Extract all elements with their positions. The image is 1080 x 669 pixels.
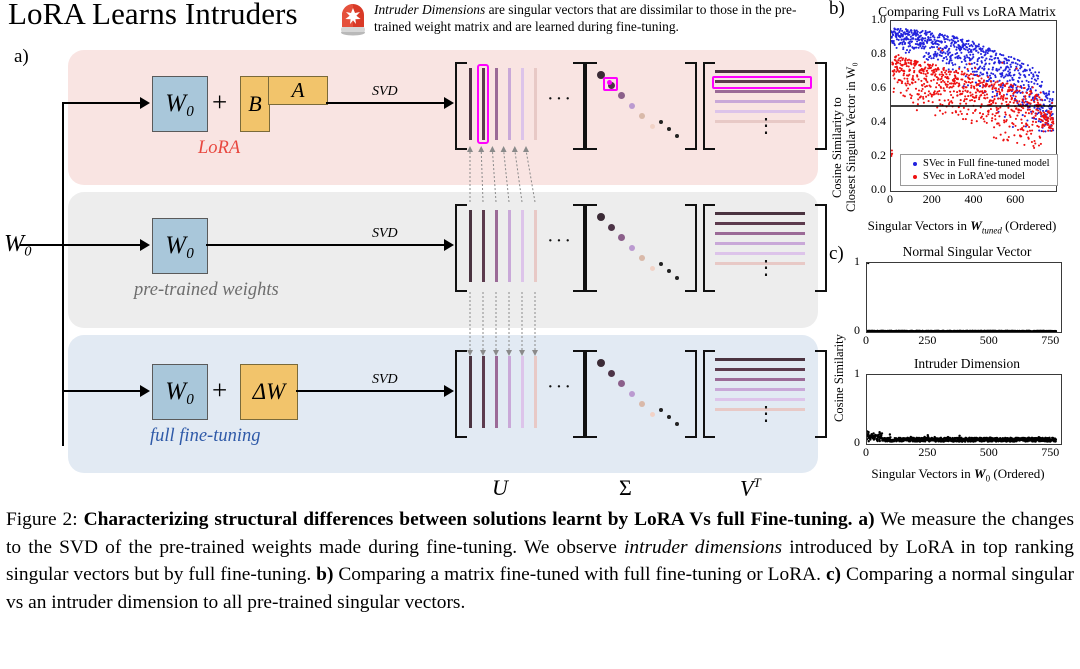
bracket-u-left — [455, 350, 467, 438]
intruder-alarm-icon — [338, 2, 368, 36]
box-deltaw-full-label: ΔW — [253, 379, 286, 405]
chart-b-ytick: 0.6 — [856, 80, 886, 95]
vt-vertical-ellipsis: ⋮ — [756, 124, 776, 129]
caption-bold-3: c) — [826, 564, 841, 585]
chart-b-legend: SVec in Full fine-tuned modelSVec in LoR… — [900, 154, 1058, 186]
svd-line-full — [296, 390, 448, 392]
plus-lora: + — [212, 87, 227, 118]
chart-b-xlabel: Singular Vectors in Wtuned (Ordered) — [846, 218, 1078, 236]
u-column — [482, 210, 485, 282]
chart-c-top-title: Normal Singular Vector — [858, 244, 1076, 260]
arrow-head-full — [140, 385, 150, 397]
bracket-vt-right — [815, 62, 827, 150]
bracket-u-right — [573, 62, 585, 150]
page-title: LoRA Learns Intruders — [8, 0, 298, 32]
chart-c-xtick: 0 — [851, 445, 881, 460]
arrow-head-lora — [140, 97, 150, 109]
chart-b-ytick: 1.0 — [856, 12, 886, 27]
matrix-caption-vt-base: V — [740, 475, 753, 500]
chart-b-xtick: 0 — [875, 192, 905, 207]
vt-row — [715, 110, 805, 113]
sigma-ellipsis-dot — [667, 415, 671, 419]
svd-line-pretrained — [206, 244, 448, 246]
u-column — [469, 210, 472, 282]
u-column — [534, 68, 537, 140]
u-column — [534, 356, 537, 428]
sigma-ellipsis-dot — [667, 127, 671, 131]
bracket-sigma-left — [585, 350, 597, 438]
sigma-diagonal-entry-highlighted — [607, 80, 612, 85]
chart-c-xtick: 250 — [912, 445, 942, 460]
caption-text-3: Comparing a matrix fine-tuned with full … — [333, 564, 826, 585]
sigma-ellipsis-dot — [659, 120, 663, 124]
u-column — [495, 68, 498, 140]
arrow-head-svd-full — [444, 385, 454, 397]
u-column — [508, 68, 511, 140]
sigma-diagonal-entry — [639, 113, 645, 119]
matrix-caption-vt-sup: T — [753, 475, 760, 490]
chart-b-xtick: 400 — [959, 192, 989, 207]
caption-prefix: Figure 2: — [6, 509, 84, 530]
u-column — [482, 356, 485, 428]
u-column — [521, 356, 524, 428]
row-label-lora: LoRA — [198, 138, 240, 159]
chart-b-ytick: 0.2 — [856, 148, 886, 163]
box-b-lora: B — [240, 76, 270, 132]
arrow-head-svd-pretrained — [444, 239, 454, 251]
sigma-diagonal-entry — [629, 391, 635, 397]
legend-color-swatch — [913, 162, 917, 166]
chart-b-legend-item: SVec in LoRA'ed model — [905, 170, 1053, 183]
box-w0-lora: W₀ — [152, 76, 208, 132]
legend-color-swatch — [913, 175, 917, 179]
vt-row — [715, 398, 805, 401]
vt-row — [715, 252, 805, 255]
chart-c-xtick: 750 — [1035, 333, 1065, 348]
chart-b-ytick: 0.4 — [856, 114, 886, 129]
legend-label: SVec in Full fine-tuned model — [923, 158, 1050, 169]
u-ellipsis: ··· — [547, 230, 573, 253]
vt-vertical-ellipsis: ⋮ — [756, 266, 776, 271]
chart-c-top-points — [867, 263, 1061, 332]
bracket-sigma-left — [585, 62, 597, 150]
sigma-ellipsis-dot — [675, 422, 679, 426]
sigma-diagonal-entry — [639, 401, 645, 407]
bracket-vt-right — [815, 350, 827, 438]
sigma-diagonal-entry — [639, 255, 645, 261]
caption-italic-1: intruder dimensions — [624, 537, 782, 558]
chart-b-title: Comparing Full vs LoRA Matrix — [854, 4, 1080, 20]
bracket-sigma-right — [685, 204, 697, 292]
svd-label-pretrained: SVD — [372, 226, 398, 242]
svd-label-lora: SVD — [372, 84, 398, 100]
header-note: Intruder Dimensions are singular vectors… — [374, 2, 826, 35]
arrow-full — [64, 390, 142, 392]
chart-b-ytick: 0.8 — [856, 46, 886, 61]
u-column — [469, 68, 472, 140]
matrix-caption-sigma: Σ — [619, 475, 632, 501]
bracket-u-left — [455, 62, 467, 150]
chart-c-xtick: 750 — [1035, 445, 1065, 460]
vt-vertical-ellipsis: ⋮ — [756, 412, 776, 417]
sigma-diagonal-entry — [597, 359, 605, 367]
bracket-sigma-right — [685, 62, 697, 150]
u-column — [521, 210, 524, 282]
chart-c-bottom-plot-area — [866, 374, 1062, 445]
box-w0-full-label: W₀ — [165, 378, 195, 406]
svd-label-full: SVD — [372, 372, 398, 388]
chart-b-xtick: 200 — [917, 192, 947, 207]
caption-bold-2: b) — [316, 564, 333, 585]
chart-c-bottom-title: Intruder Dimension — [858, 356, 1076, 372]
sigma-diagonal-entry — [629, 103, 635, 109]
chart-c-bottom-points — [867, 375, 1061, 444]
figure-caption: Figure 2: Characterizing structural diff… — [6, 506, 1074, 616]
sigma-diagonal-entry — [650, 124, 655, 129]
svd-diagram: W₀ W₀ + B A LoRA SVD W₀ pre-trained weig… — [0, 46, 830, 501]
chart-b-legend-item: SVec in Full fine-tuned model — [905, 157, 1053, 170]
chart-b-ylabel-line1: Cosine Similarity to — [830, 97, 845, 198]
chart-panel-c: Cosine Similarity Normal Singular Vector… — [828, 244, 1080, 494]
vt-row — [715, 90, 805, 93]
chart-c-xtick: 500 — [974, 333, 1004, 348]
chart-c-xtick: 250 — [912, 333, 942, 348]
chart-b-xtick: 600 — [1000, 192, 1030, 207]
sigma-diagonal-entry — [618, 92, 625, 99]
bracket-sigma-left — [585, 204, 597, 292]
bracket-u-left — [455, 204, 467, 292]
sigma-diagonal-entry — [650, 412, 655, 417]
arrow-head-svd-lora — [444, 97, 454, 109]
chart-c-xlabel: Singular Vectors in W0 (Ordered) — [836, 466, 1080, 484]
u-column — [508, 356, 511, 428]
intruder-dimension-highlight-u — [477, 64, 489, 144]
sigma-diagonal-entry — [629, 245, 635, 251]
intruder-dimension-highlight-vt — [712, 76, 812, 89]
box-w0-pretrained-label: W₀ — [165, 232, 195, 260]
arrow-lora — [64, 102, 142, 104]
box-b-lora-label: B — [248, 91, 261, 117]
matrix-caption-vt: VT — [740, 475, 761, 501]
svd-line-lora — [326, 102, 448, 104]
box-w0-pretrained: W₀ — [152, 218, 208, 274]
sigma-ellipsis-dot — [675, 134, 679, 138]
row-label-pretrained: pre-trained weights — [134, 280, 279, 301]
vt-row — [715, 222, 805, 225]
matrix-caption-u: U — [492, 475, 508, 501]
vt-row — [715, 388, 805, 391]
plus-full: + — [212, 375, 227, 406]
sigma-diagonal-entry — [608, 224, 615, 231]
bracket-vt-right — [815, 204, 827, 292]
u-column — [534, 210, 537, 282]
chart-c-ytick: 1 — [836, 254, 860, 269]
u-column — [521, 68, 524, 140]
box-deltaw-full: ΔW — [240, 364, 298, 420]
bracket-u-right — [573, 350, 585, 438]
bracket-vt-left — [703, 350, 715, 438]
vt-row — [715, 212, 805, 215]
vt-row — [715, 100, 805, 103]
box-a-lora-label: A — [292, 78, 305, 103]
u-column — [508, 210, 511, 282]
vt-row — [715, 232, 805, 235]
box-w0-lora-label: W₀ — [165, 90, 195, 118]
u-column — [495, 210, 498, 282]
sigma-diagonal-entry — [618, 234, 625, 241]
sigma-diagonal-entry — [650, 266, 655, 271]
box-w0-full: W₀ — [152, 364, 208, 420]
u-ellipsis: ··· — [547, 88, 573, 111]
vt-row — [715, 242, 805, 245]
input-bus-line — [62, 102, 64, 446]
sigma-ellipsis-dot — [659, 408, 663, 412]
bracket-u-right — [573, 204, 585, 292]
arrow-head-pretrained — [140, 239, 150, 251]
sigma-diagonal-entry — [618, 380, 625, 387]
bracket-sigma-right — [685, 350, 697, 438]
input-stub-line — [20, 244, 64, 246]
sigma-ellipsis-dot — [675, 276, 679, 280]
header-note-italic: Intruder Dimensions — [374, 2, 485, 17]
sigma-diagonal-entry — [608, 370, 615, 377]
box-a-lora: A — [268, 76, 328, 105]
arrow-pretrained — [64, 244, 142, 246]
chart-c-top-plot-area — [866, 262, 1062, 333]
chart-c-xtick: 0 — [851, 333, 881, 348]
u-ellipsis: ··· — [547, 376, 573, 399]
legend-label: SVec in LoRA'ed model — [923, 171, 1025, 182]
chart-c-ytick: 1 — [836, 366, 860, 381]
u-column — [495, 356, 498, 428]
vt-row — [715, 70, 805, 73]
sigma-ellipsis-dot — [667, 269, 671, 273]
sigma-ellipsis-dot — [659, 262, 663, 266]
chart-c-xtick: 500 — [974, 445, 1004, 460]
row-label-full: full fine-tuning — [150, 426, 260, 447]
bracket-vt-left — [703, 204, 715, 292]
vt-row — [715, 358, 805, 361]
chart-panel-b: Comparing Full vs LoRA Matrix Cosine Sim… — [828, 2, 1080, 240]
u-column — [469, 356, 472, 428]
vt-row — [715, 368, 805, 371]
vt-row — [715, 378, 805, 381]
sigma-diagonal-entry — [597, 213, 605, 221]
caption-bold-1: Characterizing structural differences be… — [84, 509, 875, 530]
